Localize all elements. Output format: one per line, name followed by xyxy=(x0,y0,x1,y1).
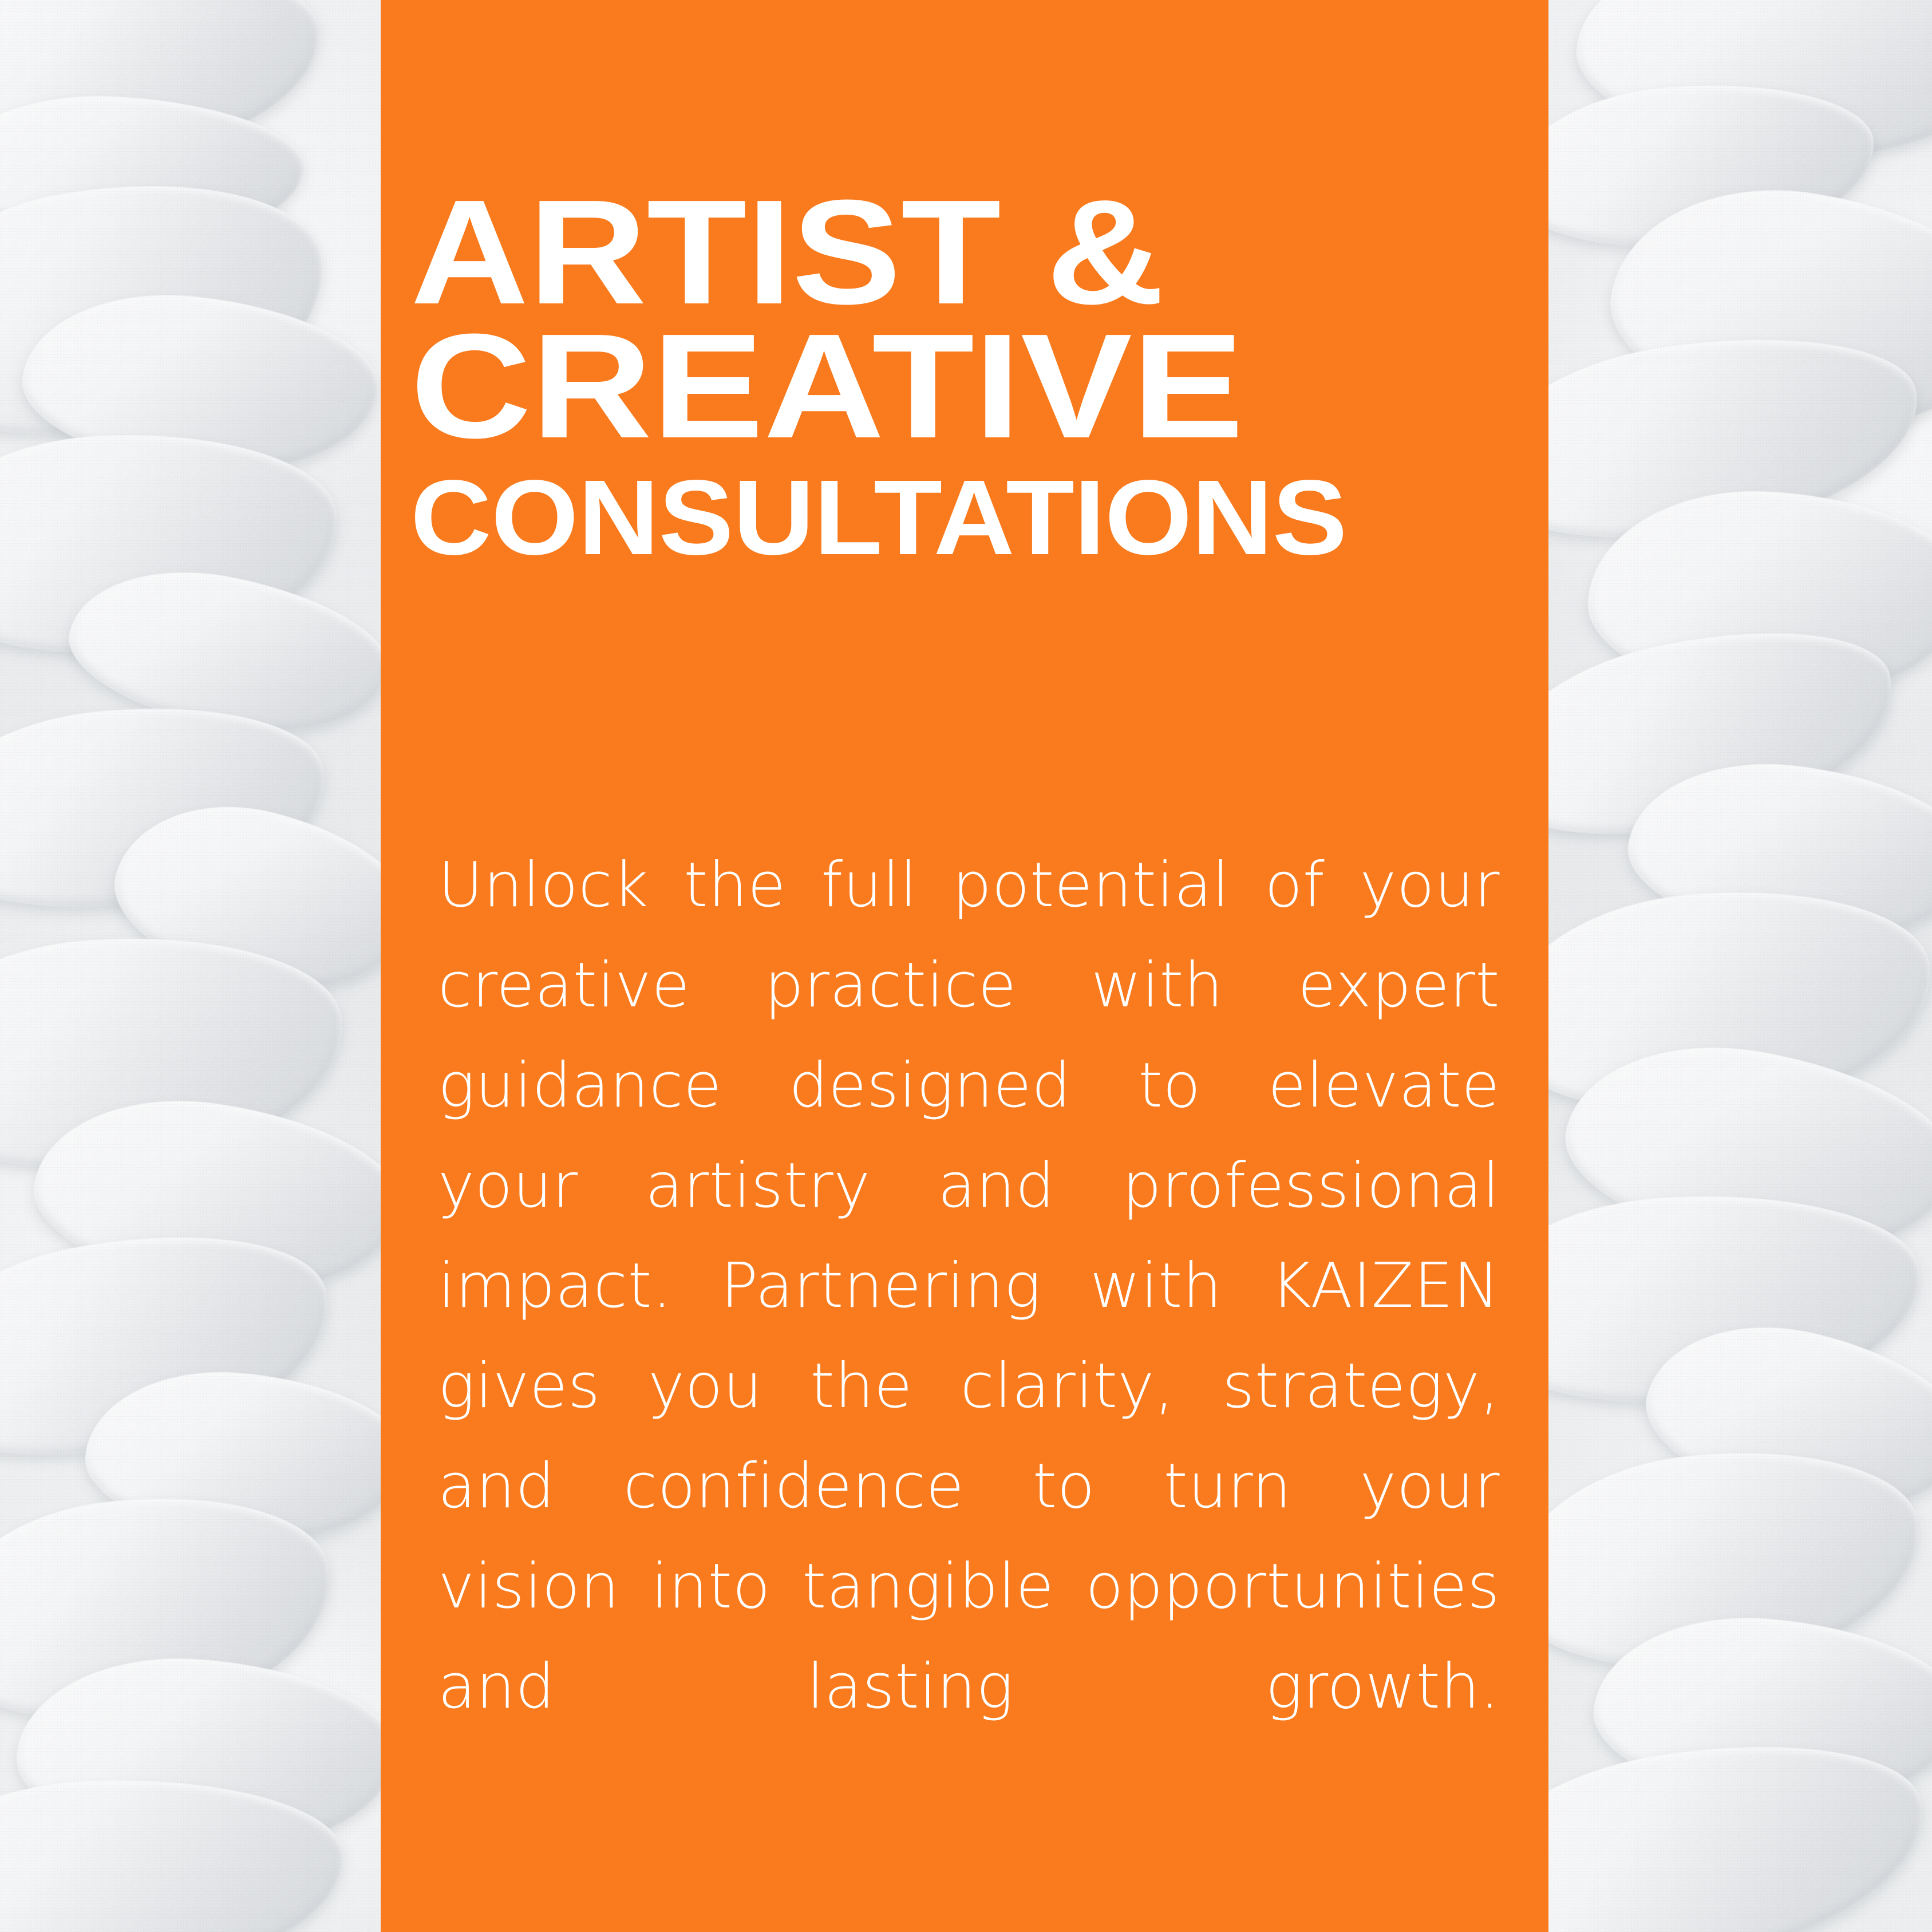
headline-line-3: CONSULTATIONS xyxy=(410,472,1594,564)
poster-canvas: ARTIST & CREATIVE CONSULTATIONS Unlock t… xyxy=(0,0,1932,1932)
orange-content-panel: ARTIST & CREATIVE CONSULTATIONS Unlock t… xyxy=(381,0,1548,1932)
headline-line-1: ARTIST & xyxy=(410,189,1645,317)
headline-line-2: CREATIVE xyxy=(410,323,1673,451)
body-paragraph: Unlock the full potential of your creati… xyxy=(438,836,1500,1838)
page-title: ARTIST & CREATIVE CONSULTATIONS xyxy=(410,189,1532,564)
